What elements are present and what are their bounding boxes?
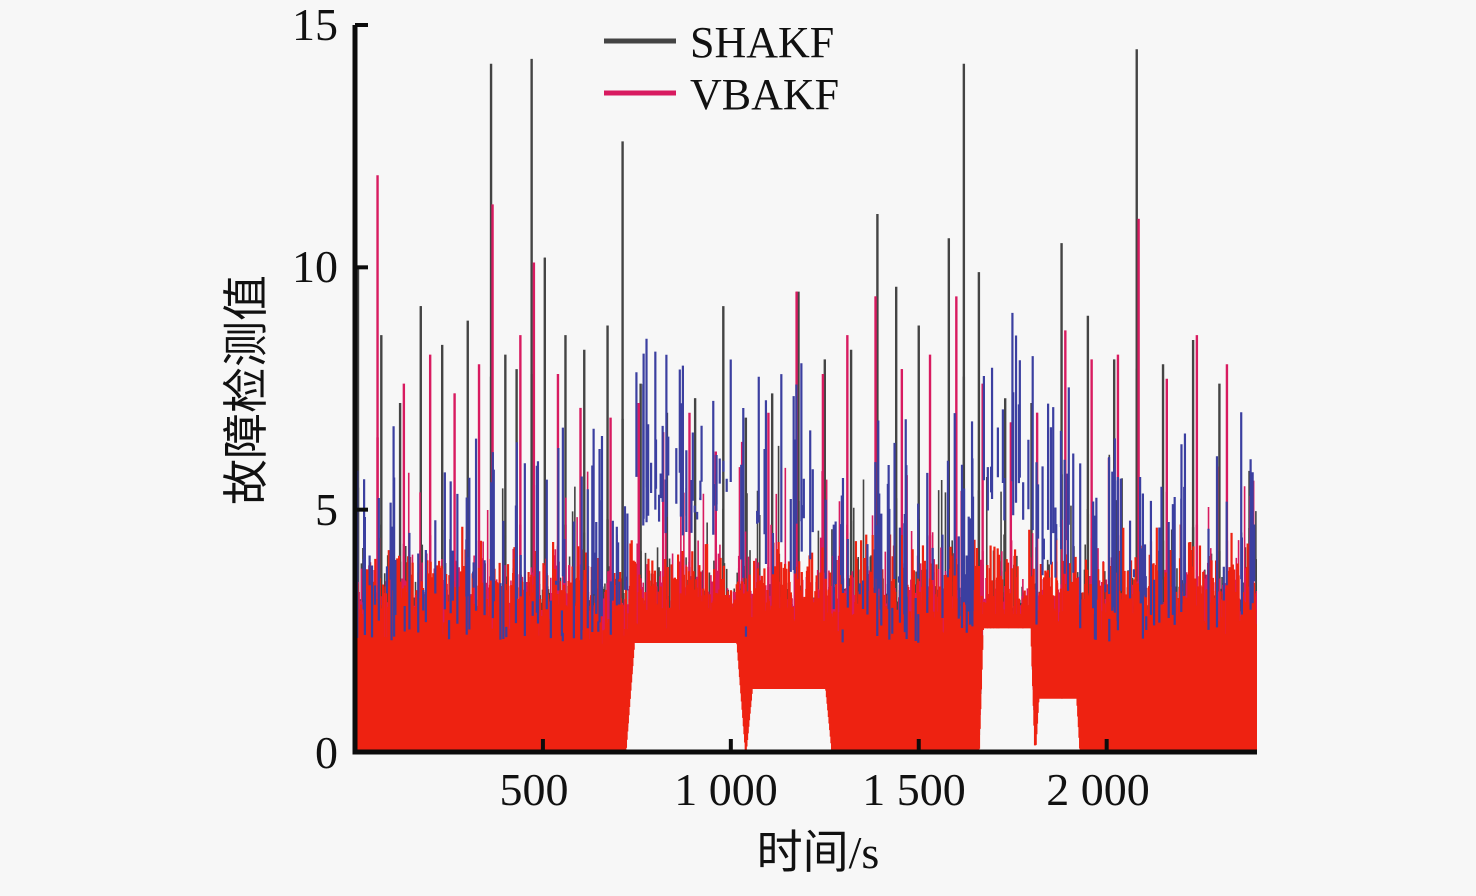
y-axis-title: 故障检测值	[221, 275, 272, 505]
y-tick-label-2: 10	[292, 241, 338, 292]
x-tick-label-3: 2 000	[1046, 764, 1150, 815]
x-tick-label-2: 1 500	[862, 764, 966, 815]
chart-figure: 500 1 000 1 500 2 000 0 5 10 15 时间/s 故障检…	[0, 0, 1476, 896]
x-axis-title: 时间/s	[757, 827, 880, 878]
y-tick-label-1: 5	[315, 484, 338, 535]
y-tick-label-3: 15	[292, 0, 338, 50]
x-tick-label-1: 1 000	[674, 764, 778, 815]
x-tick-label-0: 500	[500, 764, 569, 815]
fault-detection-chart: 500 1 000 1 500 2 000 0 5 10 15 时间/s 故障检…	[0, 0, 1476, 896]
legend-label-vbakf: VBAKF	[690, 70, 839, 119]
y-tick-label-0: 0	[315, 727, 338, 778]
legend-label-shakf: SHAKF	[690, 18, 834, 67]
